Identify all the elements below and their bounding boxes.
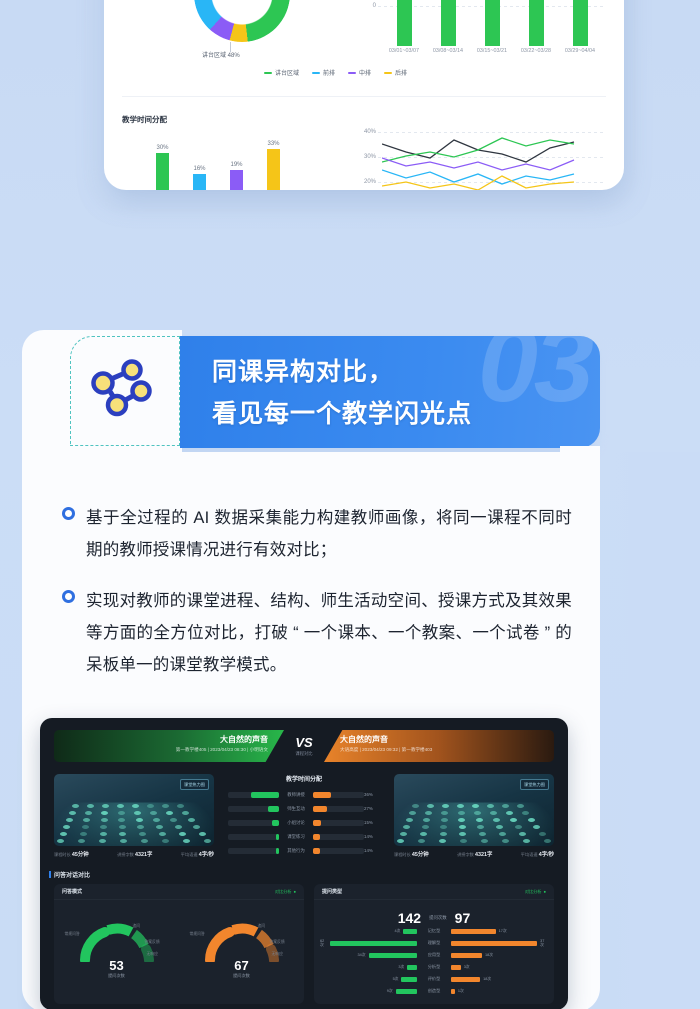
bar-segment (485, 0, 500, 46)
legend-item[interactable]: 中排 (348, 68, 371, 77)
seat-marker (177, 804, 184, 808)
question-type-row: 34次应用型18次 (314, 950, 554, 960)
classroom-heatmap-left[interactable]: 课堂热力图 (54, 774, 214, 846)
left-bar (396, 989, 417, 994)
seat-marker (119, 825, 126, 829)
question-type-row: 62次理解型37次 (314, 938, 554, 948)
section-title-line1: 同课异构对比， (212, 352, 394, 388)
card-divider (122, 96, 606, 97)
left-bar (369, 953, 418, 958)
donut-ring (194, 0, 290, 42)
left-bar-cell: 5次 (320, 977, 417, 982)
stacked-bar (573, 0, 588, 46)
stacked-bars (382, 0, 602, 46)
question-type-row: 5次评价型18次 (314, 974, 554, 984)
seat-marker (87, 804, 94, 808)
seat-marker (80, 832, 87, 836)
right-track (313, 792, 364, 798)
seat-marker (69, 811, 76, 815)
seat-marker (136, 818, 143, 822)
row-label: 小组讨论 (279, 820, 313, 826)
seat-marker (66, 818, 73, 822)
lesson-left-name: 大自然的声音 (220, 734, 268, 745)
type-label: 理解型 (417, 940, 451, 946)
right-track (313, 834, 364, 840)
seat-marker (199, 832, 206, 836)
total-center-label: 提问次数 (429, 915, 447, 921)
stat-item: 讲授字数 4321字 (457, 850, 492, 858)
qa-panel-action[interactable]: 对比分析 ● (275, 889, 296, 895)
row-percent: 15% (364, 820, 380, 825)
seat-marker (60, 832, 67, 836)
right-bar (451, 929, 496, 934)
share-nodes-icon (78, 350, 164, 436)
seat-marker (422, 825, 429, 829)
left-count: 5次 (393, 977, 399, 982)
seat-marker (175, 825, 182, 829)
right-count: 37次 (540, 939, 548, 948)
stacked-y-axis: 50% 25% 0 (354, 0, 378, 46)
gauge-label: 无响应 (147, 952, 158, 957)
weekly-stacked-bar-chart: 50% 25% 0 03/01~03/0703/08~03/1403/15~03… (354, 0, 604, 72)
stat-item: 课程时长 45分钟 (394, 850, 429, 858)
qa-gauge: 常规问答追问答案反馈无响应67提问次数 (196, 916, 288, 986)
right-count: 1次 (458, 989, 464, 994)
right-track (313, 820, 364, 826)
row-label: 师生互动 (279, 806, 313, 812)
seat-marker (472, 804, 479, 808)
question-type-panel: 提问类型 对比分析 ● 142 提问次数 97 4次记忆型17次62次理解型37… (314, 884, 554, 1004)
teaching-time-comparison: 教学时间分配 教师讲授36%师生互动27%小组讨论15%课堂练习14%其他行为1… (228, 774, 380, 859)
qa-action-label: 对比分析 (275, 889, 292, 895)
bar-segment (573, 0, 588, 46)
lesson-left-meta: 第一教学楼405 | 2023/04/23 08:30 | 小明语文 (176, 747, 268, 753)
seat-marker (493, 818, 500, 822)
right-bar-cell: 37次 (451, 939, 548, 948)
type-panel-title: 提问类型 (322, 888, 342, 895)
gauge-label: 答案反馈 (270, 940, 285, 945)
seat-marker (539, 832, 546, 836)
right-bar-cell: 3次 (451, 965, 548, 970)
time-bar-label: 33% (267, 141, 279, 147)
bullet-text-2: 实现对教师的课堂进程、结构、师生活动空间、授课方式及其效果等方面的全方位对比，打… (86, 585, 572, 682)
time-bar: 19% (230, 170, 243, 191)
time-bar: 16% (193, 174, 206, 190)
stat-item: 讲授字数 4321字 (117, 850, 152, 858)
qa-gauge: 常规问答追问答案反馈无响应53提问次数 (71, 916, 163, 986)
page-root: 后排 6% 讲台区域 48% 50% 25% 0 03/01~03/0703/0… (0, 0, 700, 1009)
legend-item[interactable]: 讲台区域 (264, 68, 299, 77)
seat-marker (99, 839, 106, 843)
lesson-left-banner[interactable]: 大自然的声音 第一教学楼405 | 2023/04/23 08:30 | 小明语… (54, 730, 284, 762)
seat-marker (427, 804, 434, 808)
type-label: 创造型 (417, 988, 451, 994)
chart-legend: 讲台区域前排中排后排 (264, 68, 407, 77)
total-left: 142 (398, 910, 421, 926)
left-track (228, 806, 279, 812)
seat-marker (481, 839, 488, 843)
gauge-caption: 提问次数 (71, 973, 163, 979)
bullet-ring-icon (62, 507, 75, 520)
stacked-bar (529, 0, 544, 46)
left-bar-cell: 62次 (320, 939, 417, 948)
ytick-0: 0 (373, 3, 376, 9)
right-bar (451, 965, 461, 970)
section-title-line2: 看见每一个教学闪光点 (212, 394, 472, 430)
seat-marker (459, 825, 466, 829)
seat-marker (397, 839, 404, 843)
seat-marker (204, 839, 211, 843)
type-label: 记忆型 (417, 928, 451, 934)
seat-marker (403, 825, 410, 829)
top-dashboard-card: 后排 6% 讲台区域 48% 50% 25% 0 03/01~03/0703/0… (104, 0, 624, 190)
gauge-label: 追问 (133, 924, 141, 929)
gauge-label: 常规问答 (190, 932, 205, 937)
gauge-caption: 提问次数 (196, 973, 288, 979)
right-count: 18次 (483, 977, 491, 982)
heatmap-tag-right[interactable]: 课堂热力图 (520, 779, 549, 790)
heatmap-tag-left[interactable]: 课堂热力图 (180, 779, 209, 790)
seat-marker (460, 839, 467, 843)
left-count: 62次 (320, 939, 327, 948)
legend-item[interactable]: 后排 (384, 68, 407, 77)
lesson-right-meta: 大语高度 | 2023/04/23 09:32 | 第一教学楼403 (340, 747, 432, 753)
time-bar: 30% (156, 153, 169, 190)
right-bar (451, 941, 537, 946)
question-totals: 142 提问次数 97 (314, 900, 554, 926)
time-compare-row: 教师讲授36% (228, 789, 380, 800)
seat-marker (118, 811, 125, 815)
legend-swatch (384, 72, 392, 74)
time-compare-row: 小组讨论15% (228, 817, 380, 828)
seat-marker (474, 811, 481, 815)
time-compare-row: 师生互动27% (228, 803, 380, 814)
seat-marker (442, 804, 449, 808)
legend-label: 讲台区域 (275, 68, 299, 77)
stat-item: 平均语速 4字/秒 (181, 850, 214, 858)
stacked-x-labels: 03/01~03/0703/08~03/1403/15~03/2103/22~0… (382, 48, 602, 54)
gauge-label: 无响应 (272, 952, 283, 957)
seat-distribution-donut: 后排 6% 讲台区域 48% (180, 0, 310, 76)
stat-item: 课程时长 45分钟 (54, 850, 89, 858)
bar-segment (529, 0, 544, 46)
question-type-row: 9次创造型1次 (314, 986, 554, 996)
seat-marker (134, 811, 141, 815)
stacked-x-tick: 03/29~04/04 (565, 48, 595, 54)
row-label: 其他行为 (279, 848, 313, 854)
stacked-x-tick: 03/15~03/21 (477, 48, 507, 54)
trend-line-chart: 40% 30% 20% (354, 132, 604, 190)
type-panel-action[interactable]: 对比分析 ● (525, 889, 546, 895)
time-compare-row: 其他行为14% (228, 845, 380, 856)
row-percent: 14% (364, 834, 380, 839)
seat-marker (490, 811, 497, 815)
seat-marker (406, 818, 413, 822)
left-track (228, 792, 279, 798)
vs-divider: VS 课程对比 (284, 736, 324, 757)
classroom-heatmap-right[interactable]: 课堂热力图 (394, 774, 554, 846)
gauge-label: 答案反馈 (145, 940, 160, 945)
stat-item: 平均语速 4字/秒 (521, 850, 554, 858)
seat-marker (57, 839, 64, 843)
right-bar-cell: 1次 (451, 989, 548, 994)
left-bar-cell: 9次 (320, 989, 417, 994)
right-count: 17次 (499, 929, 507, 934)
seat-marker (102, 804, 109, 808)
seat-marker (441, 818, 448, 822)
plus-circle-icon[interactable]: ● (543, 889, 546, 894)
seat-marker (409, 811, 416, 815)
right-bar-cell: 18次 (451, 977, 548, 982)
seat-marker (78, 839, 85, 843)
seat-marker (418, 839, 425, 843)
stacked-bar (397, 0, 412, 46)
legend-label: 中排 (359, 68, 371, 77)
seat-marker (132, 804, 139, 808)
left-bar (403, 929, 417, 934)
seat-marker (162, 804, 169, 808)
type-action-label: 对比分析 (525, 889, 542, 895)
type-label: 应用型 (417, 952, 451, 958)
left-bar (330, 941, 417, 946)
right-bar-cell: 17次 (451, 929, 548, 934)
stacked-x-tick: 03/08~03/14 (433, 48, 463, 54)
row-percent: 27% (364, 806, 380, 811)
bullet-item-2: 实现对教师的课堂进程、结构、师生活动空间、授课方式及其效果等方面的全方位对比，打… (62, 585, 572, 682)
stacked-x-tick: 03/01~03/07 (389, 48, 419, 54)
legend-swatch (264, 72, 272, 74)
row-percent: 36% (364, 792, 380, 797)
seat-marker (499, 832, 506, 836)
seat-marker (420, 832, 427, 836)
seat-marker (141, 839, 148, 843)
left-count: 4次 (395, 929, 401, 934)
left-track (228, 848, 279, 854)
seat-marker (458, 811, 465, 815)
left-count: 3次 (398, 965, 404, 970)
section-number-watermark: 03 (478, 336, 590, 418)
center-chart-title: 教学时间分配 (228, 774, 380, 783)
qa-panel-title: 问答模式 (62, 888, 82, 895)
time-compare-row: 课堂练习14% (228, 831, 380, 842)
type-label: 分析型 (417, 964, 451, 970)
vs-header: 大自然的声音 第一教学楼405 | 2023/04/23 08:30 | 小明语… (54, 730, 554, 762)
right-count: 18次 (485, 953, 493, 958)
question-type-row: 3次分析型3次 (314, 962, 554, 972)
right-track (313, 848, 364, 854)
row-percent: 14% (364, 848, 380, 853)
trend-lines-svg (382, 132, 602, 190)
time-bar-label: 16% (193, 166, 205, 172)
seat-marker (440, 832, 447, 836)
time-bar-label: 19% (230, 162, 242, 168)
right-bar (451, 953, 482, 958)
seat-marker (517, 804, 524, 808)
seat-marker (147, 804, 154, 808)
seat-marker (400, 832, 407, 836)
gauge-label: 追问 (258, 924, 266, 929)
vs-label: VS (284, 736, 324, 749)
left-track (228, 820, 279, 826)
right-edge-fade (600, 452, 700, 1009)
seat-marker (179, 832, 186, 836)
gauge-label: 常规问答 (65, 932, 80, 937)
line-ytick-30: 30% (364, 154, 376, 160)
seat-marker (188, 818, 195, 822)
time-allocation-title: 教学时间分配 (122, 114, 167, 125)
seat-marker (72, 804, 79, 808)
stacked-bar (485, 0, 500, 46)
comparison-dashboard: 大自然的声音 第一教学楼405 | 2023/04/23 08:30 | 小明语… (40, 718, 568, 1009)
stacked-x-tick: 03/22~03/28 (521, 48, 551, 54)
left-bar-cell: 3次 (320, 965, 417, 970)
seat-marker (487, 804, 494, 808)
seat-marker (502, 839, 509, 843)
right-count: 3次 (464, 965, 470, 970)
gauge-value: 53 (71, 958, 163, 973)
bullet-text-1: 基于全过程的 AI 数据采集能力构建教师画像，将同一课程不同时期的教师授课情况进… (86, 502, 572, 566)
left-track (228, 834, 279, 840)
left-count: 34次 (357, 953, 365, 958)
qa-mode-panel: 问答模式 对比分析 ● 常规问答追问答案反馈无响应53提问次数常规问答追问答案反… (54, 884, 304, 1004)
time-allocation-bars: 30%16%19%33% (156, 136, 366, 190)
section-banner: 03 同课异构对比， 看见每一个教学闪光点 (180, 336, 600, 448)
left-bar-cell: 34次 (320, 953, 417, 958)
left-bar (407, 965, 417, 970)
right-bar (451, 977, 480, 982)
seat-marker (439, 839, 446, 843)
seat-marker (476, 818, 483, 822)
right-track (313, 806, 364, 812)
seat-marker (150, 811, 157, 815)
legend-label: 后排 (395, 68, 407, 77)
stacked-bar (441, 0, 456, 46)
lesson-left-stats: 课程时长 45分钟讲授字数 4321字平均语速 4字/秒 (54, 850, 214, 858)
type-label: 评价型 (417, 976, 451, 982)
legend-item[interactable]: 前排 (312, 68, 335, 77)
seat-marker (117, 804, 124, 808)
seat-marker (412, 804, 419, 808)
right-bar (451, 989, 455, 994)
seat-marker (156, 825, 163, 829)
time-bar-label: 30% (156, 145, 168, 151)
seat-marker (523, 839, 530, 843)
seat-marker (528, 818, 535, 822)
row-label: 课堂练习 (279, 834, 313, 840)
lesson-right-stats: 课程时长 45分钟讲授字数 4321字平均语速 4字/秒 (394, 850, 554, 858)
bullet-item-1: 基于全过程的 AI 数据采集能力构建教师画像，将同一课程不同时期的教师授课情况进… (62, 502, 572, 566)
seat-marker (162, 839, 169, 843)
left-bar (401, 977, 417, 982)
lesson-right-name: 大自然的声音 (340, 734, 388, 745)
seat-marker (82, 825, 89, 829)
seat-marker (101, 818, 108, 822)
seat-marker (100, 832, 107, 836)
left-bar-cell: 4次 (320, 929, 417, 934)
legend-swatch (312, 72, 320, 74)
seat-marker (153, 818, 160, 822)
seat-marker (519, 832, 526, 836)
plus-circle-icon[interactable]: ● (293, 889, 296, 894)
question-type-row: 4次记忆型17次 (314, 926, 554, 936)
seat-marker (183, 839, 190, 843)
seat-marker (457, 804, 464, 808)
gauge-value: 67 (196, 958, 288, 973)
seat-marker (120, 839, 127, 843)
bar-segment (441, 0, 456, 46)
row-label: 教师讲授 (279, 792, 313, 798)
seat-marker (515, 825, 522, 829)
lesson-right-banner[interactable]: 大自然的声音 大语高度 | 2023/04/23 09:32 | 第一教学楼40… (324, 730, 554, 762)
seat-marker (544, 839, 551, 843)
time-bar: 33% (267, 149, 280, 191)
bar-segment (397, 0, 412, 46)
left-count: 9次 (387, 989, 393, 994)
seat-marker (496, 825, 503, 829)
legend-swatch (348, 72, 356, 74)
line-ytick-20: 20% (364, 179, 376, 185)
vs-sublabel: 课程对比 (284, 751, 324, 757)
legend-label: 前排 (323, 68, 335, 77)
bullet-ring-icon (62, 590, 75, 603)
seat-marker (502, 804, 509, 808)
right-bar-cell: 18次 (451, 953, 548, 958)
total-right: 97 (455, 910, 471, 926)
line-ytick-40: 40% (364, 129, 376, 135)
qa-section-heading: 问答对话对比 (54, 870, 90, 879)
seat-marker (63, 825, 70, 829)
donut-label-podium: 讲台区域 48% (202, 50, 240, 59)
seat-marker (159, 832, 166, 836)
